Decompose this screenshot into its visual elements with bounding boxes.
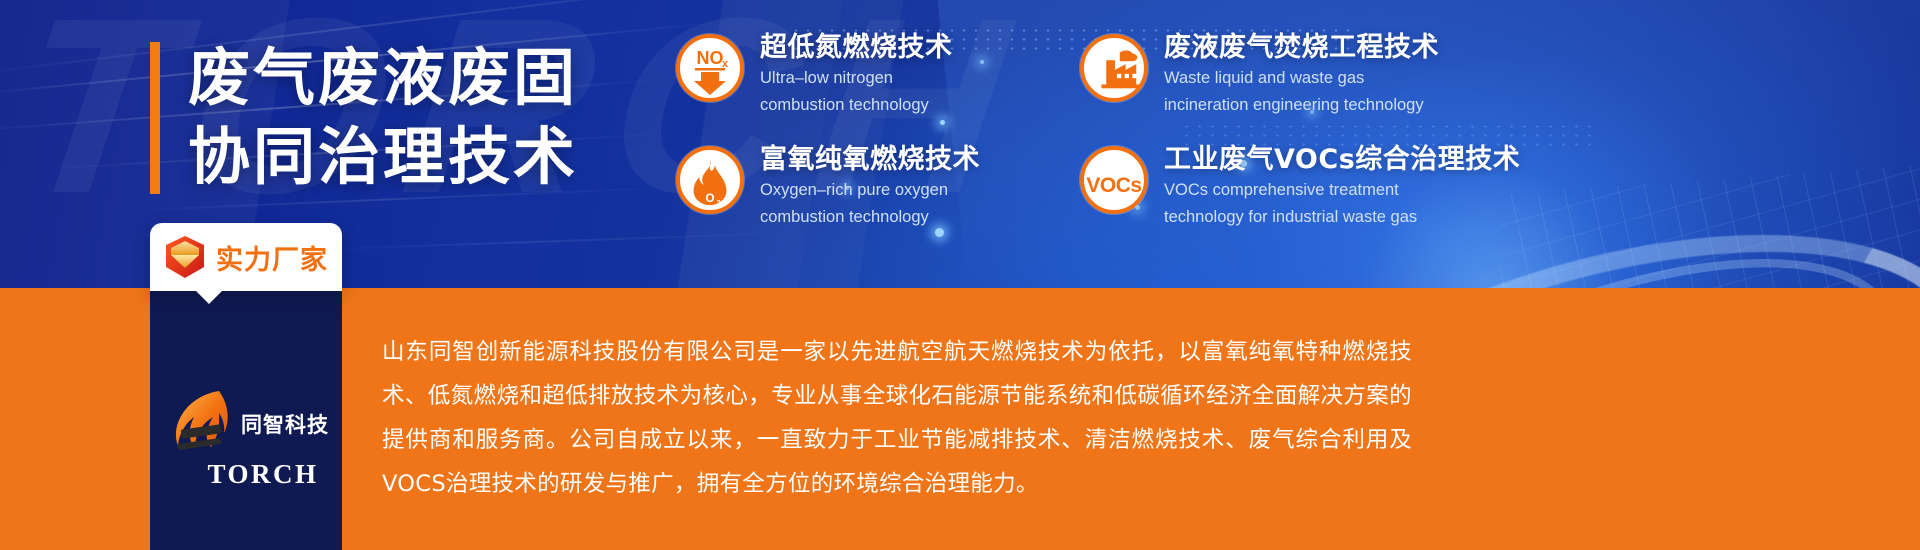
headline-line-1: 废气废液废固: [188, 38, 578, 117]
vocs-icon: VOCs: [1080, 146, 1148, 214]
headline-block: 废气废液废固 协同治理技术: [150, 38, 578, 197]
feature-item-oxygen[interactable]: O 2 富氧纯氧燃烧技术 Oxygen–rich pure oxygen com…: [676, 142, 1080, 246]
badge-label: 实力厂家: [216, 238, 328, 277]
page-title: 废气废液废固 协同治理技术: [188, 38, 578, 197]
feature-text: 超低氮燃烧技术 Ultra–low nitrogen combustion te…: [760, 30, 953, 117]
logo-name-cn: 同智科技: [241, 409, 329, 439]
feature-grid: NO x 超低氮燃烧技术 Ultra–low nitrogen combusti…: [676, 30, 1484, 246]
feature-subtitle-line2: combustion technology: [760, 207, 980, 229]
medal-shield-icon: [164, 234, 206, 280]
svg-text:NO: NO: [697, 48, 724, 68]
factory-smokestack-icon: [1080, 34, 1148, 102]
feature-title: 工业废气VOCs综合治理技术: [1164, 144, 1520, 175]
feature-subtitle-line2: technology for industrial waste gas: [1164, 207, 1520, 229]
promo-banner: TORCH 废气废液废固 协同治理技术 NO x: [0, 0, 1920, 550]
nox-down-arrow-icon: NO x: [676, 34, 744, 102]
feature-subtitle-line1: Ultra–low nitrogen: [760, 68, 953, 90]
feature-text: 富氧纯氧燃烧技术 Oxygen–rich pure oxygen combust…: [760, 142, 980, 229]
headline-line-2: 协同治理技术: [188, 117, 578, 196]
feature-subtitle-line2: combustion technology: [760, 95, 953, 117]
feature-title: 废液废气焚烧工程技术: [1164, 32, 1439, 63]
company-logo[interactable]: 同智科技 TORCH: [150, 387, 342, 490]
feature-text: 废液废气焚烧工程技术 Waste liquid and waste gas in…: [1164, 30, 1439, 117]
torch-flame-logo-icon: [163, 387, 235, 461]
company-description: 山东同智创新能源科技股份有限公司是一家以先进航空航天燃烧技术为依托，以富氧纯氧特…: [382, 288, 1860, 550]
feature-subtitle-line2: incineration engineering technology: [1164, 95, 1439, 117]
feature-title: 超低氮燃烧技术: [760, 32, 953, 63]
logo-row: 同智科技: [163, 387, 329, 461]
feature-item-nox[interactable]: NO x 超低氮燃烧技术 Ultra–low nitrogen combusti…: [676, 30, 1080, 134]
logo-name-en: TORCH: [207, 459, 318, 490]
flame-o2-icon: O 2: [676, 146, 744, 214]
feature-subtitle-line1: Oxygen–rich pure oxygen: [760, 180, 980, 202]
description-paragraph: 山东同智创新能源科技股份有限公司是一家以先进航空航天燃烧技术为依托，以富氧纯氧特…: [382, 331, 1412, 507]
svg-text:O: O: [705, 192, 714, 205]
status-badge: 实力厂家: [150, 223, 342, 291]
feature-subtitle-line1: Waste liquid and waste gas: [1164, 68, 1439, 90]
feature-item-incineration[interactable]: 废液废气焚烧工程技术 Waste liquid and waste gas in…: [1080, 30, 1484, 134]
feature-title: 富氧纯氧燃烧技术: [760, 144, 980, 175]
svg-text:2: 2: [717, 198, 721, 207]
headline-accent-bar: [150, 42, 160, 194]
feature-item-vocs[interactable]: VOCs 工业废气VOCs综合治理技术 VOCs comprehensive t…: [1080, 142, 1484, 246]
svg-text:VOCs: VOCs: [1086, 174, 1141, 197]
feature-text: 工业废气VOCs综合治理技术 VOCs comprehensive treatm…: [1164, 142, 1520, 229]
feature-subtitle-line1: VOCs comprehensive treatment: [1164, 180, 1520, 202]
